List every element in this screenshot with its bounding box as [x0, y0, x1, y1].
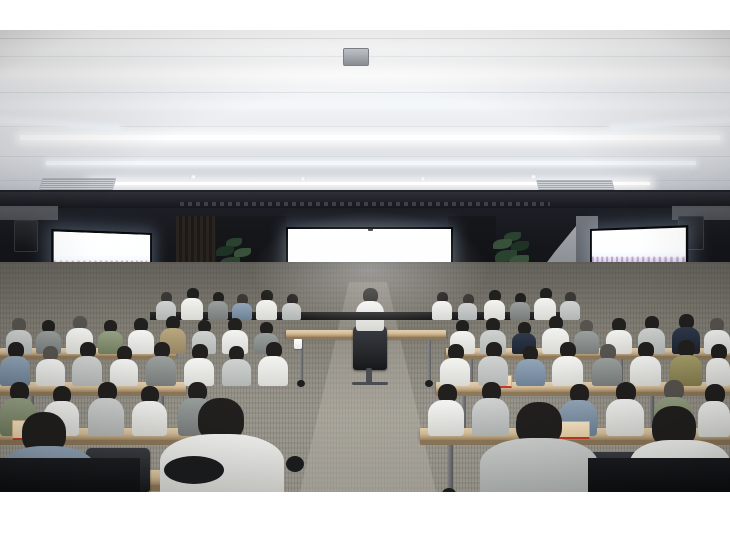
attendee: [478, 342, 508, 384]
wall-speaker-left: [14, 220, 38, 252]
ceiling-light-strip: [0, 118, 120, 130]
ceiling: [0, 30, 730, 205]
wall-panel-left: [0, 206, 58, 220]
attendee: [432, 292, 452, 318]
attendee: [146, 342, 176, 384]
attendee: [36, 346, 65, 384]
attendee: [592, 344, 622, 384]
attendee: [510, 293, 530, 318]
ceiling-spotlight: [530, 175, 537, 179]
paper-cup: [294, 339, 302, 349]
attendee: [232, 294, 252, 318]
chair-caster: [164, 456, 224, 484]
attendee: [72, 342, 102, 384]
ceiling-projector: [343, 48, 369, 66]
attendee: [0, 342, 30, 384]
attendee: [208, 292, 228, 318]
ceiling-light-strip: [0, 102, 730, 107]
presenter-person: [356, 288, 384, 334]
attendee: [282, 294, 301, 318]
attendee: [110, 346, 138, 384]
attendee: [184, 344, 214, 384]
table-caster: [297, 380, 305, 387]
attendee: [560, 292, 580, 318]
attendee: [534, 288, 556, 318]
attendee: [552, 342, 583, 384]
attendee: [630, 342, 661, 384]
attendee: [484, 290, 505, 318]
person-torso: [480, 438, 598, 492]
stage-truss-lattice: [180, 202, 550, 206]
attendee: [258, 342, 288, 384]
ceiling-light-strip: [46, 161, 696, 165]
ceiling-light-strip: [610, 118, 730, 130]
attendee: [516, 346, 545, 384]
foreground-chair-back: [588, 458, 730, 492]
ceiling-spotlight: [190, 175, 197, 179]
attendee: [670, 340, 702, 384]
screen-bezel-indicator: [368, 228, 373, 231]
ceiling-spotlight: [420, 177, 426, 181]
attendee: [440, 344, 470, 384]
ceiling-light-strip: [0, 70, 730, 77]
attendee: [458, 294, 477, 318]
attendee: [181, 288, 203, 318]
attendee: [256, 290, 277, 318]
ceiling-spotlight: [300, 177, 306, 181]
attendee-foreground: [480, 402, 598, 492]
attendee: [428, 384, 464, 434]
attendee: [706, 344, 730, 384]
table-leg: [428, 340, 431, 382]
chair-caster: [286, 456, 304, 472]
conference-room-photo: [0, 30, 730, 492]
page-root: Corporate conference room meeting Tiered…: [0, 0, 730, 548]
table-leg: [448, 445, 453, 492]
attendee: [156, 292, 176, 318]
ceiling-light-strip: [20, 135, 720, 140]
chair-base: [352, 382, 388, 385]
attendee: [222, 346, 251, 384]
foreground-chair-back: [0, 458, 140, 492]
